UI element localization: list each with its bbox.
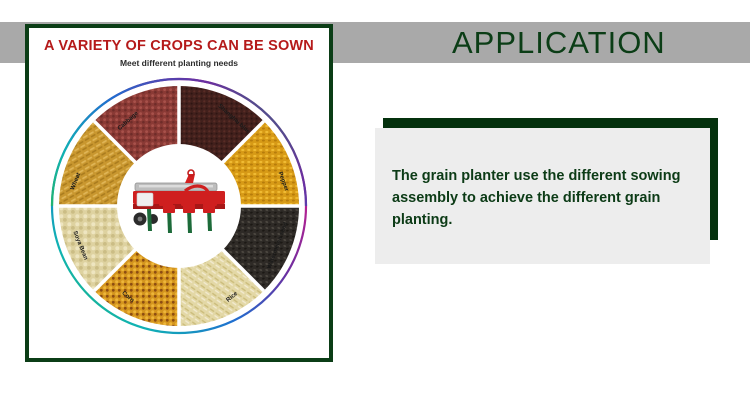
infographic-title: A VARIETY OF CROPS CAN BE SOWN: [29, 38, 329, 54]
application-card-text: The grain planter use the different sowi…: [392, 165, 682, 231]
page-title: APPLICATION: [452, 24, 666, 62]
crop-wheel: Cabbage Shanghai blue Pepper Watermelon …: [43, 70, 315, 342]
infographic-subtitle: Meet different planting needs: [29, 58, 329, 68]
infographic-panel: A VARIETY OF CROPS CAN BE SOWN Meet diff…: [25, 24, 333, 362]
grain-planter-machine-icon: [123, 169, 235, 243]
